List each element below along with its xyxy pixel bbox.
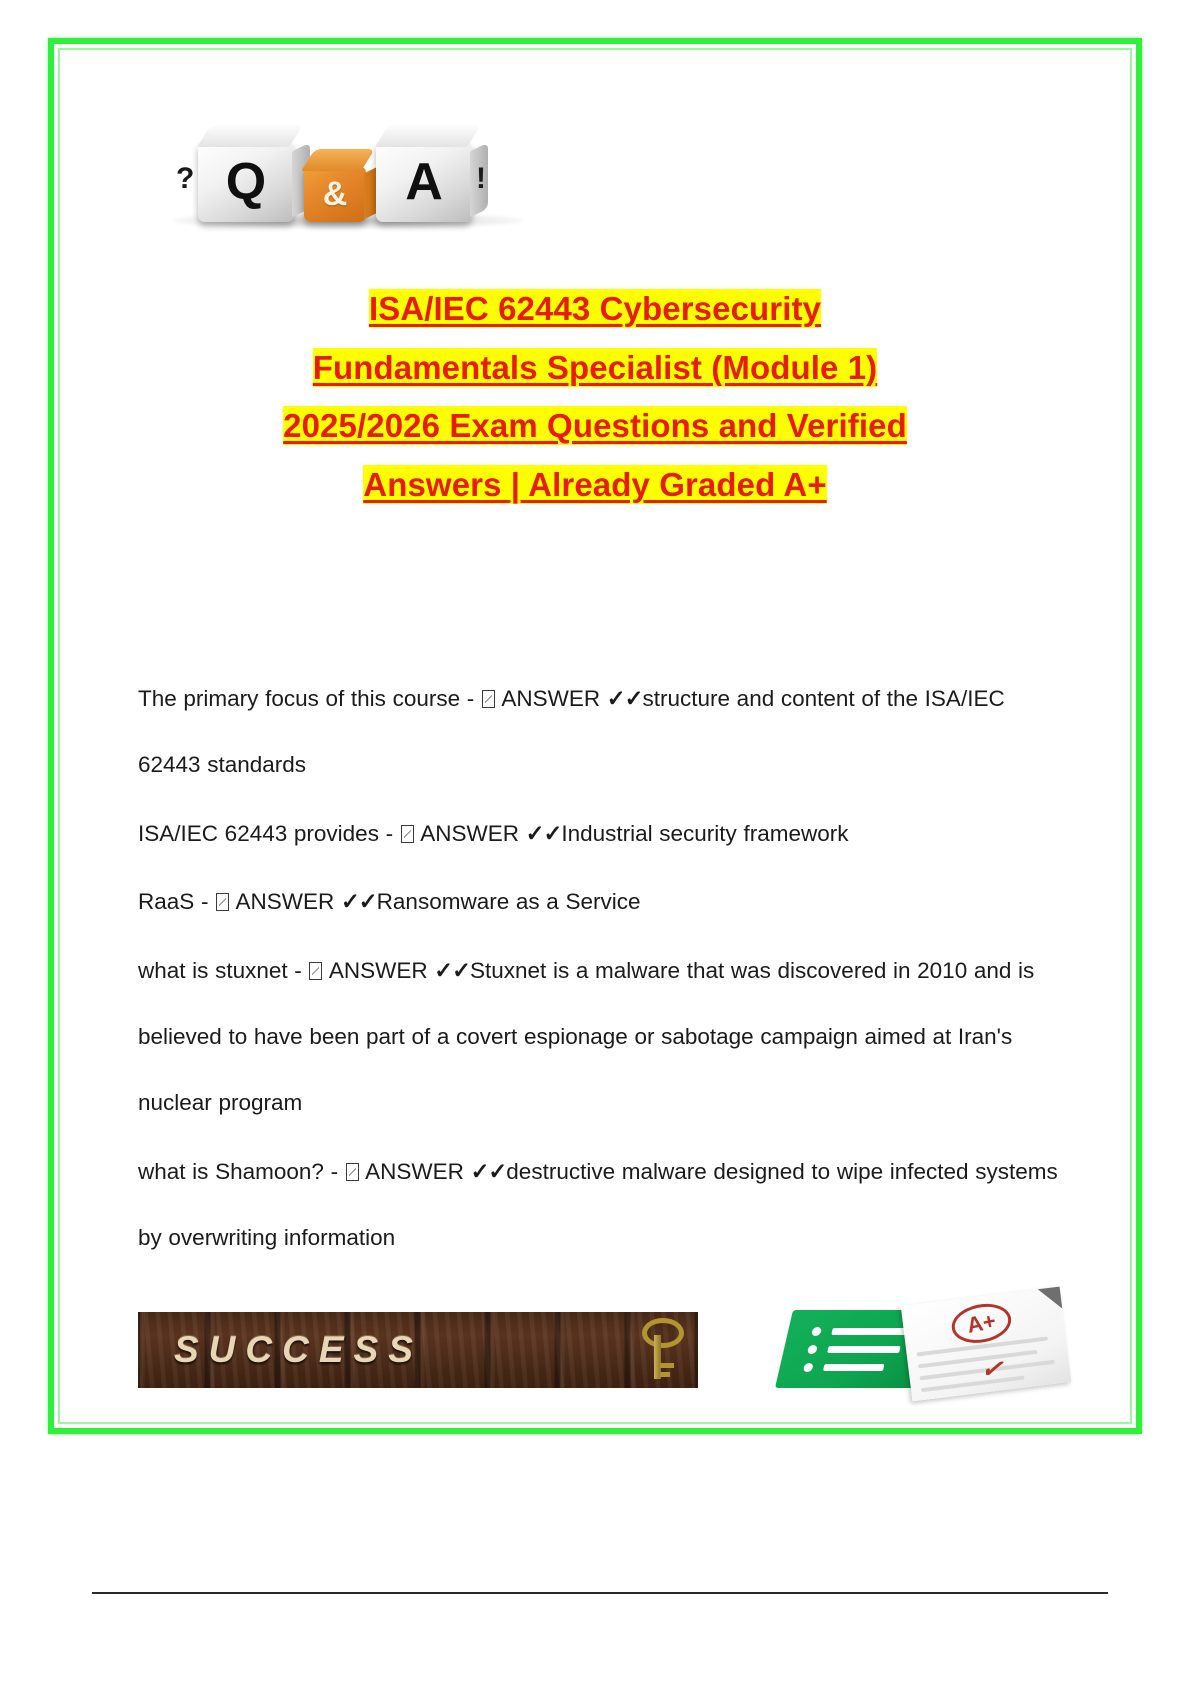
footer-divider-rule <box>92 1592 1108 1594</box>
footer-image-row: SUCCESS A <box>138 1312 1066 1398</box>
qa-answer: Industrial security framework <box>561 821 848 846</box>
qa-answer-label: ANSWER <box>236 889 335 914</box>
key-icon <box>636 1318 680 1382</box>
card-line <box>827 1346 901 1353</box>
card-bullet <box>811 1327 822 1336</box>
missing-glyph-icon <box>482 690 495 708</box>
key-bow <box>642 1318 684 1348</box>
grade-checkmark-icon: ✓ <box>980 1353 1004 1386</box>
qa-dice-image: ? Q & A ! <box>140 104 554 254</box>
qa-item: what is Shamoon? - ANSWER ✓✓destructive … <box>138 1139 1066 1272</box>
double-check-icon: ✓✓ <box>607 686 643 711</box>
key-bit-secondary <box>660 1372 670 1377</box>
title-line-3: 2025/2026 Exam Questions and Verified <box>283 406 907 445</box>
qa-answer-label: ANSWER <box>365 1159 464 1184</box>
document-page-frame: ? Q & A ! ISA/IEC 62443 Cybersecur <box>48 38 1142 1434</box>
paper-fold-corner <box>1038 1287 1063 1312</box>
qa-question: what is stuxnet <box>138 958 288 983</box>
card-bullet <box>803 1363 814 1372</box>
graded-paper-sheet: A+ ✓ <box>901 1287 1072 1402</box>
dice-cube-ampersand: & <box>304 166 366 222</box>
double-check-icon: ✓✓ <box>341 889 377 914</box>
dice-cube-q: Q <box>198 142 294 222</box>
missing-glyph-icon <box>401 825 414 843</box>
qa-question: The primary focus of this course <box>138 686 460 711</box>
title-line-4: Answers | Already Graded A+ <box>363 465 826 504</box>
document-title: ISA/IEC 62443 Cybersecurity Fundamentals… <box>98 280 1092 515</box>
question-mark-glyph: ? <box>176 164 194 194</box>
dice-letter-q: Q <box>198 142 294 222</box>
qa-separator: - <box>386 821 394 846</box>
qa-item: The primary focus of this course - ANSWE… <box>138 666 1066 799</box>
title-line-2: Fundamentals Specialist (Module 1) <box>313 348 878 387</box>
missing-glyph-icon <box>216 893 229 911</box>
qa-item: what is stuxnet - ANSWER ✓✓Stuxnet is a … <box>138 938 1066 1137</box>
qa-item: ISA/IEC 62443 provides - ANSWER ✓✓Indust… <box>138 801 1066 867</box>
double-check-icon: ✓✓ <box>434 958 470 983</box>
dice-cube-a: A <box>376 142 472 222</box>
dice-letter-a: A <box>376 142 472 222</box>
qa-separator: - <box>201 889 209 914</box>
qa-question: ISA/IEC 62443 provides <box>138 821 379 846</box>
key-bit <box>660 1363 674 1368</box>
card-line <box>823 1364 885 1371</box>
qa-item: RaaS - ANSWER ✓✓Ransomware as a Service <box>138 869 1066 935</box>
a-plus-graded-paper: A+ ✓ <box>766 1290 1066 1398</box>
qa-content-body: The primary focus of this course - ANSWE… <box>138 666 1066 1273</box>
qa-answer-label: ANSWER <box>329 958 428 983</box>
title-line-1: ISA/IEC 62443 Cybersecurity <box>369 289 821 328</box>
qa-separator: - <box>294 958 302 983</box>
card-bullet <box>807 1345 818 1354</box>
success-wood-banner: SUCCESS <box>138 1312 698 1388</box>
qa-separator: - <box>467 686 475 711</box>
exclamation-mark-glyph: ! <box>476 164 486 194</box>
double-check-icon: ✓✓ <box>526 821 562 846</box>
missing-glyph-icon <box>346 1163 359 1181</box>
qa-answer-label: ANSWER <box>420 821 519 846</box>
success-word: SUCCESS <box>174 1329 423 1371</box>
document-page-content: ? Q & A ! ISA/IEC 62443 Cybersecur <box>68 58 1122 1414</box>
qa-separator: - <box>331 1159 339 1184</box>
missing-glyph-icon <box>309 962 322 980</box>
card-line <box>831 1328 915 1335</box>
qa-answer-label: ANSWER <box>501 686 600 711</box>
qa-answer: Ransomware as a Service <box>377 889 641 914</box>
qa-question: what is Shamoon? <box>138 1159 324 1184</box>
grade-badge: A+ <box>948 1299 1014 1348</box>
qa-question: RaaS <box>138 889 194 914</box>
dice-letter-ampersand: & <box>304 166 366 222</box>
double-check-icon: ✓✓ <box>471 1159 507 1184</box>
